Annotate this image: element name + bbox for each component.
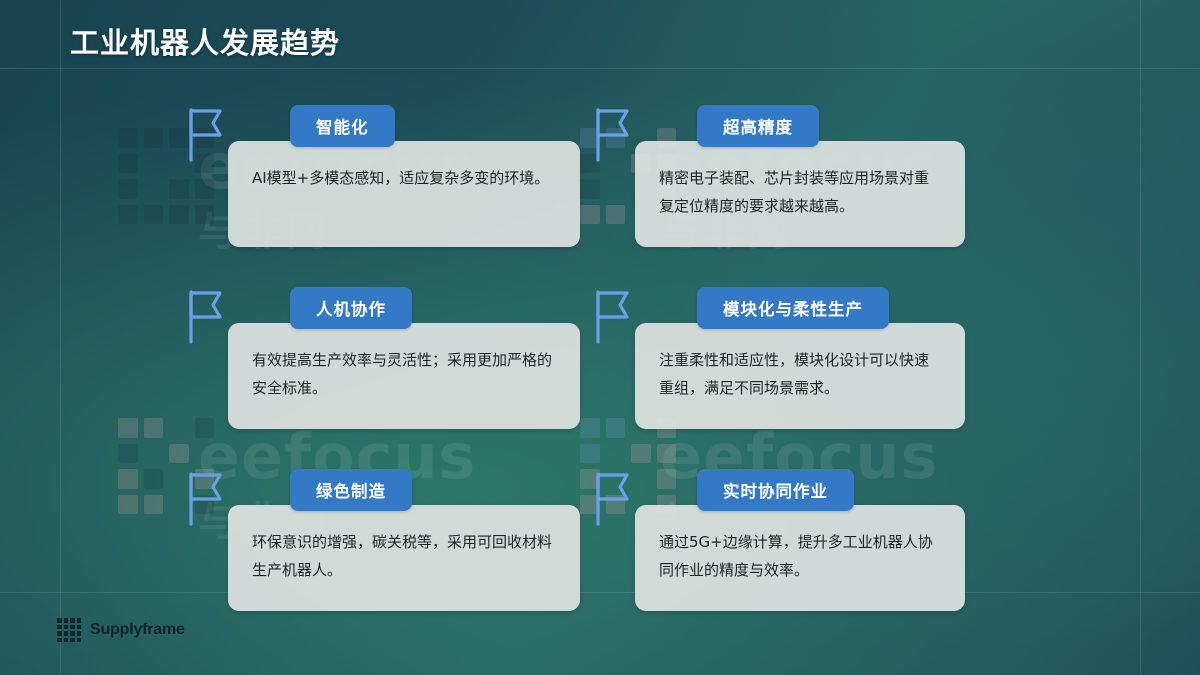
trend-card-4[interactable]: 模块化与柔性生产 注重柔性和适应性，模块化设计可以快速重组，满足不同场景需求。: [635, 287, 965, 429]
flag-icon: [186, 471, 226, 527]
trend-card-text: AI模型+多模态感知，适应复杂多变的环境。: [228, 141, 580, 247]
trend-card-text: 注重柔性和适应性，模块化设计可以快速重组，满足不同场景需求。: [635, 323, 965, 429]
trend-card-text: 有效提高生产效率与灵活性；采用更加严格的安全标准。: [228, 323, 580, 429]
trend-card-1[interactable]: 智能化 AI模型+多模态感知，适应复杂多变的环境。: [228, 105, 580, 247]
flag-icon: [186, 289, 226, 345]
guide-line-vertical-left: [60, 0, 61, 675]
trend-card-label[interactable]: 智能化: [290, 105, 395, 147]
flag-icon: [186, 107, 226, 163]
cards-grid: 智能化 AI模型+多模态感知，适应复杂多变的环境。 超高精度 精密电子装配、芯片…: [228, 105, 1028, 651]
trend-card-text: 通过5G+边缘计算，提升多工业机器人协同作业的精度与效率。: [635, 505, 965, 611]
cards-row-3: 绿色制造 环保意识的增强，碳关税等，采用可回收材料生产机器人。 实时协同作业 通…: [228, 469, 1028, 611]
trend-card-label[interactable]: 超高精度: [697, 105, 819, 147]
footer-logo: Supplyframe: [57, 618, 185, 642]
trend-card-text: 环保意识的增强，碳关税等，采用可回收材料生产机器人。: [228, 505, 580, 611]
trend-card-text: 精密电子装配、芯片封装等应用场景对重复定位精度的要求越来越高。: [635, 141, 965, 247]
page-title: 工业机器人发展趋势: [70, 20, 340, 62]
trend-card-5[interactable]: 绿色制造 环保意识的增强，碳关税等，采用可回收材料生产机器人。: [228, 469, 580, 611]
footer-logo-text: Supplyframe: [90, 621, 185, 639]
guide-line-vertical-right: [1140, 0, 1141, 675]
trend-card-6[interactable]: 实时协同作业 通过5G+边缘计算，提升多工业机器人协同作业的精度与效率。: [635, 469, 965, 611]
flag-icon: [593, 107, 633, 163]
trend-card-label[interactable]: 绿色制造: [290, 469, 412, 511]
cards-row-2: 人机协作 有效提高生产效率与灵活性；采用更加严格的安全标准。 模块化与柔性生产 …: [228, 287, 1028, 429]
trend-card-3[interactable]: 人机协作 有效提高生产效率与灵活性；采用更加严格的安全标准。: [228, 287, 580, 429]
trend-card-label[interactable]: 人机协作: [290, 287, 412, 329]
flag-icon: [593, 289, 633, 345]
grid-square-icon: [57, 618, 81, 642]
trend-card-2[interactable]: 超高精度 精密电子装配、芯片封装等应用场景对重复定位精度的要求越来越高。: [635, 105, 965, 247]
trend-card-label[interactable]: 实时协同作业: [697, 469, 854, 511]
trend-card-label[interactable]: 模块化与柔性生产: [697, 287, 889, 329]
flag-icon: [593, 471, 633, 527]
guide-line-horizontal-top: [0, 68, 1200, 69]
cards-row-1: 智能化 AI模型+多模态感知，适应复杂多变的环境。 超高精度 精密电子装配、芯片…: [228, 105, 1028, 247]
slide-root: eefocus 与非网 eefocus 与非网 eefocus 与非网 eefo…: [0, 0, 1200, 675]
